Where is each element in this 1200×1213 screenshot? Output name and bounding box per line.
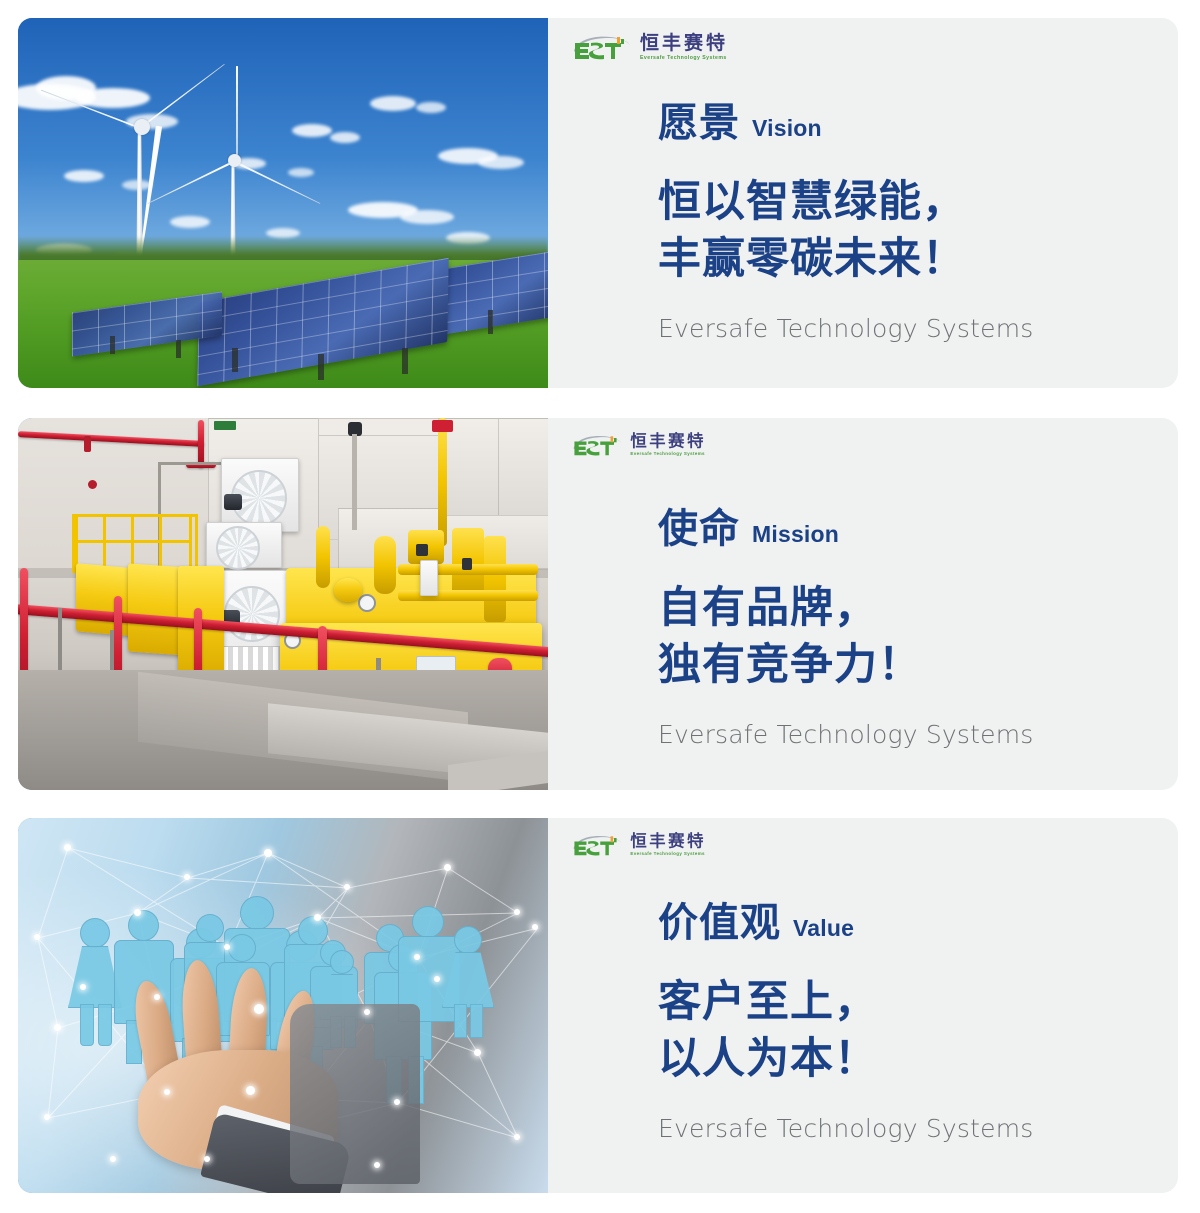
brand-logo[interactable]: 恒丰赛特 Eversafe Technology Systems xyxy=(571,32,728,62)
cloud xyxy=(400,210,454,224)
vision-mission-value-board: 恒丰赛特 Eversafe Technology Systems 愿景 Visi… xyxy=(0,0,1200,1213)
logo-chinese-name: 恒丰赛特 xyxy=(630,834,706,850)
logo-english-name: Eversafe Technology Systems xyxy=(630,853,706,857)
turbine-hub xyxy=(134,119,150,135)
cooling-fan xyxy=(216,526,260,570)
motor xyxy=(334,578,362,602)
network-node xyxy=(64,844,71,851)
mission-tagline: Eversafe Technology Systems xyxy=(658,720,1034,749)
panel-vision: 恒丰赛特 Eversafe Technology Systems 愿景 Visi… xyxy=(548,18,1178,388)
network-node xyxy=(394,1099,400,1105)
network-node xyxy=(184,874,190,880)
logo-wordmark: 恒丰赛特 Eversafe Technology Systems xyxy=(630,432,706,457)
network-node xyxy=(414,954,420,960)
network-node xyxy=(254,1004,264,1014)
network-node xyxy=(154,994,160,1000)
mission-text-block: 使命 Mission 自有品牌， 独有竞争力！ Eversafe Technol… xyxy=(658,496,1034,749)
logo-chinese-name: 恒丰赛特 xyxy=(640,34,728,53)
vision-heading-en: Vision xyxy=(752,115,822,142)
value-tagline: Eversafe Technology Systems xyxy=(658,1114,1034,1143)
network-node xyxy=(80,984,86,990)
cloud xyxy=(122,180,152,190)
photo-compressor-station xyxy=(18,418,548,790)
est-logo-icon xyxy=(571,432,624,458)
cloud xyxy=(330,132,360,143)
mission-heading: 使命 Mission xyxy=(658,496,1034,554)
sprinkler-head xyxy=(88,480,97,489)
network-node xyxy=(204,1156,210,1162)
network-node xyxy=(474,1049,481,1056)
turbine-hub xyxy=(228,154,241,167)
network-node xyxy=(264,849,272,857)
network-node xyxy=(134,909,141,916)
est-logo-icon xyxy=(571,832,624,858)
solar-panel-leg xyxy=(318,354,324,380)
vision-text-block: 愿景 Vision 恒以智慧绿能， 丰赢零碳未来！ Eversafe Techn… xyxy=(658,90,1034,343)
pipe-fitting xyxy=(84,436,91,452)
solar-panel-leg xyxy=(176,340,181,358)
network-node xyxy=(444,864,451,871)
solar-panel-leg xyxy=(488,310,493,334)
cloud xyxy=(416,102,446,113)
network-node xyxy=(246,1086,255,1095)
brand-logo[interactable]: 恒丰赛特 Eversafe Technology Systems xyxy=(571,432,706,458)
conduit xyxy=(158,462,222,465)
network-node xyxy=(224,944,230,950)
network-node xyxy=(34,934,40,940)
value-slogan: 客户至上， 以人为本！ xyxy=(658,974,1034,1088)
vision-heading-cn: 愿景 xyxy=(658,90,740,148)
cloud xyxy=(64,170,104,182)
mission-heading-cn: 使命 xyxy=(658,496,740,554)
value-heading-cn: 价值观 xyxy=(658,890,781,948)
logo-english-name: Eversafe Technology Systems xyxy=(640,56,728,61)
card-mission: 恒丰赛特 Eversafe Technology Systems 使命 Miss… xyxy=(18,418,1178,790)
card-vision: 恒丰赛特 Eversafe Technology Systems 愿景 Visi… xyxy=(18,18,1178,388)
panel-value: 恒丰赛特 Eversafe Technology Systems 价值观 Val… xyxy=(548,818,1178,1193)
network-node xyxy=(344,884,350,890)
cloud xyxy=(170,216,210,228)
logo-wordmark: 恒丰赛特 Eversafe Technology Systems xyxy=(640,32,728,61)
mission-heading-en: Mission xyxy=(752,521,839,548)
process-pipe xyxy=(398,590,538,601)
mission-slogan: 自有品牌， 独有竞争力！ xyxy=(658,580,1034,694)
brand-logo[interactable]: 恒丰赛特 Eversafe Technology Systems xyxy=(571,832,706,858)
vision-tagline: Eversafe Technology Systems xyxy=(658,314,1034,343)
logo-wordmark: 恒丰赛特 Eversafe Technology Systems xyxy=(630,832,706,857)
photo-people-network xyxy=(18,818,548,1193)
network-node xyxy=(44,1114,50,1120)
cloud xyxy=(370,96,416,111)
network-node xyxy=(364,1009,370,1015)
solar-panel-leg xyxy=(232,348,238,372)
network-node xyxy=(514,1134,520,1140)
valve-body xyxy=(484,536,506,622)
est-logo-icon xyxy=(571,32,633,62)
network-node xyxy=(54,1024,61,1031)
network-node xyxy=(434,976,440,982)
fan-motor xyxy=(224,494,242,510)
network-node xyxy=(164,1089,170,1095)
process-vessel xyxy=(374,536,396,594)
valve-actuator xyxy=(432,420,453,432)
vision-heading: 愿景 Vision xyxy=(658,90,1034,148)
photo-wind-solar xyxy=(18,18,548,388)
network-node xyxy=(374,1162,380,1168)
value-text-block: 价值观 Value 客户至上， 以人为本！ Eversafe Technolog… xyxy=(658,890,1034,1143)
network-node xyxy=(314,914,321,921)
actuator xyxy=(420,560,438,596)
wall-panel xyxy=(438,418,500,516)
card-value: 恒丰赛特 Eversafe Technology Systems 价值观 Val… xyxy=(18,818,1178,1193)
panel-mission: 恒丰赛特 Eversafe Technology Systems 使命 Miss… xyxy=(548,418,1178,790)
solar-panel-leg xyxy=(402,348,408,374)
wall-panel xyxy=(498,418,548,516)
cloud xyxy=(76,88,150,108)
pressure-gauge xyxy=(358,594,376,612)
value-heading-en: Value xyxy=(793,915,854,942)
solar-panel-leg xyxy=(110,336,115,354)
vision-slogan: 恒以智慧绿能， 丰赢零碳未来！ xyxy=(658,174,1034,288)
logo-chinese-name: 恒丰赛特 xyxy=(630,434,706,450)
network-node xyxy=(514,909,520,915)
support-rod xyxy=(352,434,357,530)
network-node xyxy=(110,1156,116,1162)
instrument xyxy=(462,558,472,570)
fire-pipe xyxy=(198,420,204,468)
cloud xyxy=(292,124,332,137)
gas-riser-pipe xyxy=(438,418,447,546)
railing-rail xyxy=(72,540,192,543)
instrument xyxy=(416,544,428,556)
exit-sign xyxy=(214,421,236,430)
logo-english-name: Eversafe Technology Systems xyxy=(630,453,706,457)
cloud xyxy=(478,156,524,169)
cloud xyxy=(288,168,314,177)
process-vessel xyxy=(316,526,330,588)
network-node xyxy=(532,924,538,930)
value-heading: 价值观 Value xyxy=(658,890,1034,948)
